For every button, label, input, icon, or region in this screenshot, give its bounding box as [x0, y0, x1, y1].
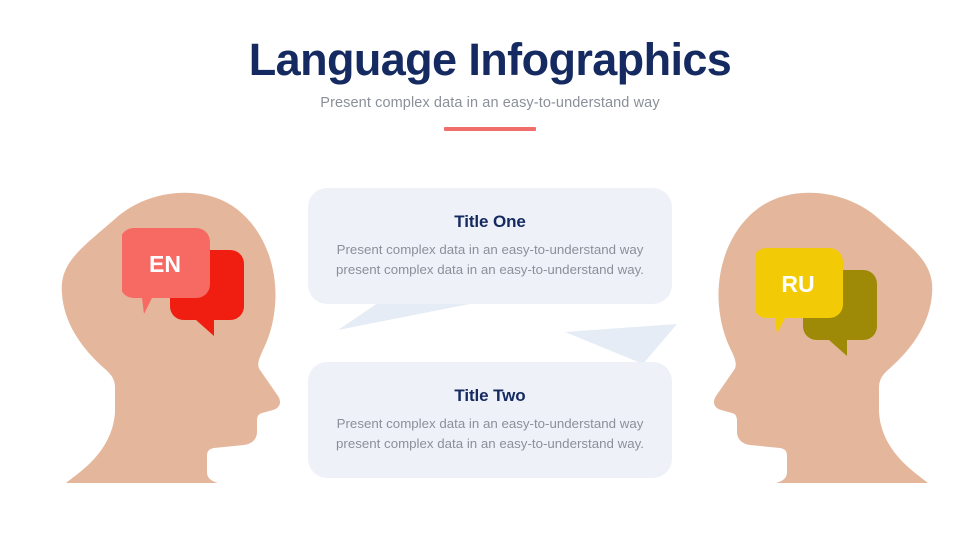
info-card-one-title: Title One	[336, 212, 644, 232]
language-badge-ru-label: RU	[781, 271, 814, 297]
language-badge-en[interactable]: EN	[122, 228, 252, 341]
language-badge-en-label: EN	[149, 251, 181, 277]
language-badge-ru[interactable]: RU	[755, 248, 885, 361]
info-card-two[interactable]: Title Two Present complex data in an eas…	[308, 362, 672, 478]
info-card-one-body: Present complex data in an easy-to-under…	[336, 240, 644, 279]
slide-canvas: Language Infographics Present complex da…	[0, 0, 980, 551]
info-card-two-title: Title Two	[336, 386, 644, 406]
info-card-one[interactable]: Title One Present complex data in an eas…	[308, 188, 672, 304]
speech-bubble-pair-ru-icon: RU	[755, 248, 885, 356]
page-subtitle: Present complex data in an easy-to-under…	[0, 95, 980, 111]
page-title: Language Infographics	[0, 36, 980, 85]
speech-bubble-pair-en-icon: EN	[122, 228, 252, 336]
header: Language Infographics Present complex da…	[0, 36, 980, 131]
info-card-two-body: Present complex data in an easy-to-under…	[336, 414, 644, 453]
title-divider	[444, 127, 536, 131]
